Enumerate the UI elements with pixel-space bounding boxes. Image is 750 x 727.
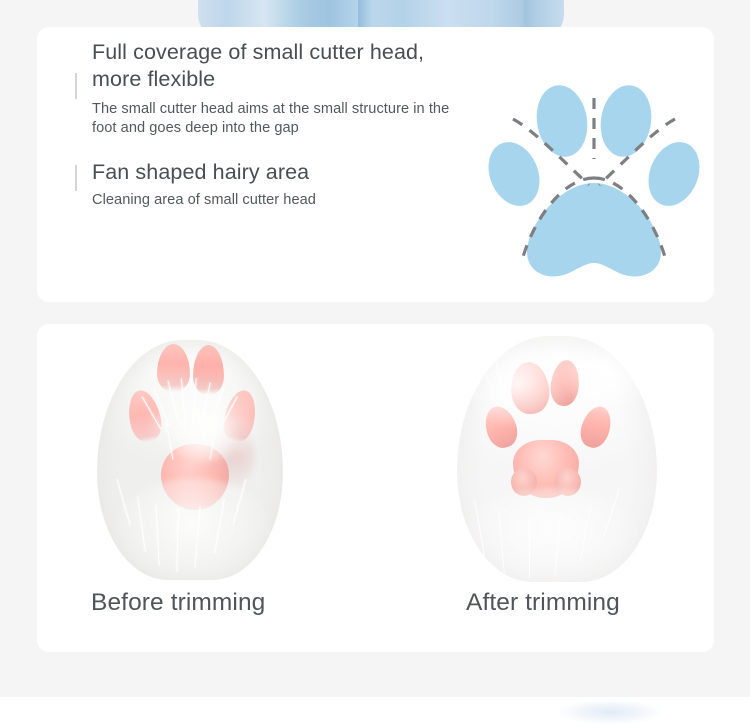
- next-section-preview: [555, 699, 665, 725]
- before-paw-image: [73, 328, 343, 583]
- before-photo: [73, 328, 343, 583]
- after-paw-image: [439, 328, 689, 583]
- product-image-strip: [0, 0, 750, 29]
- fur-tuft: [559, 334, 659, 414]
- fur-tuft: [169, 406, 239, 466]
- after-caption: After trimming: [466, 588, 620, 618]
- features-card: Full coverage of small cutter head, more…: [37, 27, 714, 302]
- product-body: [198, 0, 564, 29]
- fur-strand: [529, 516, 530, 578]
- fur-tuft: [113, 478, 273, 583]
- product-highlight: [358, 0, 374, 29]
- page-bottom-area: [0, 697, 750, 727]
- feature-title: Full coverage of small cutter head, more…: [92, 39, 456, 93]
- product-edge: [524, 0, 534, 29]
- after-photo: [439, 328, 689, 583]
- feature-item-coverage: Full coverage of small cutter head, more…: [56, 39, 456, 137]
- accent-bar: [75, 165, 77, 191]
- before-caption: Before trimming: [91, 588, 265, 618]
- feature-title: Fan shaped hairy area: [92, 159, 456, 186]
- fur-tuft: [463, 338, 573, 428]
- feature-list: Full coverage of small cutter head, more…: [56, 39, 456, 216]
- paw-print-icon: [479, 67, 709, 289]
- feature-item-fan-area: Fan shaped hairy area Cleaning area of s…: [56, 159, 456, 210]
- feature-description: Cleaning area of small cutter head: [92, 191, 456, 210]
- feature-description: The small cutter head aims at the small …: [92, 100, 456, 137]
- accent-bar: [75, 73, 77, 99]
